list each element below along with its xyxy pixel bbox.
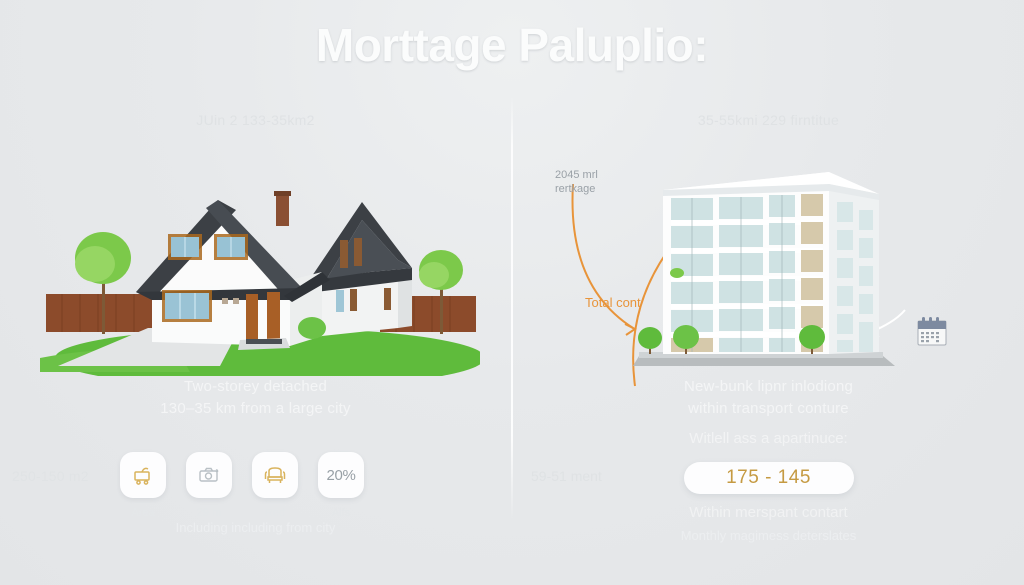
left-caption: Two-storey detached 130–35 km from a lar… xyxy=(0,376,511,420)
left-footnote: Including including from city xyxy=(0,520,511,535)
right-panel-apartment: 35-55kmi 229 firntitue 2045 mrl rertkage… xyxy=(513,96,1024,566)
percent-value: 20% xyxy=(326,467,355,484)
apartment-illustration xyxy=(633,156,913,376)
camera-icon xyxy=(197,463,221,487)
right-caption-line2: within transport conture xyxy=(513,398,1024,420)
right-subtitle: 35-55kmi 229 firntitue xyxy=(513,112,1024,128)
infographic-canvas: Morttage Paluplio: JUin 2 133-35km2 xyxy=(0,0,1024,585)
mortgage-annotation-line2: rertkage xyxy=(555,182,625,196)
armchair-icon xyxy=(263,463,287,487)
page-title: Morttage Paluplio: xyxy=(0,18,1024,72)
mortgage-annotation: 2045 mrl rertkage xyxy=(555,168,625,196)
left-size-label: 250-150 m2 xyxy=(12,468,89,484)
feature-card-distance[interactable]: 29 m xyxy=(186,452,232,519)
right-sub-note: Within merspant contart xyxy=(513,504,1024,521)
left-caption-line2: 130–35 km from a large city xyxy=(0,398,511,420)
left-subtitle: JUin 2 133-35km2 xyxy=(0,112,511,128)
calendar-icon xyxy=(915,314,949,348)
right-size-label: 59-51 ment xyxy=(531,468,602,484)
percent-card[interactable]: 20% xyxy=(318,452,364,498)
feature-card-label: Alfs xyxy=(332,507,350,519)
right-footnote: Monthly magimess deterslates xyxy=(513,528,1024,543)
feature-card-label: 29 m xyxy=(197,507,221,519)
right-question: Witlell ass a apartinuce: xyxy=(513,430,1024,447)
armchair-card[interactable] xyxy=(252,452,298,498)
house-illustration xyxy=(40,176,480,376)
feature-card-label: Area xyxy=(131,507,154,519)
left-caption-line1: Two-storey detached xyxy=(0,376,511,398)
feature-card-furnishing[interactable]: Red xyxy=(252,452,298,519)
feature-card-row: Area 29 m xyxy=(120,452,364,519)
price-range-value: 175 - 145 xyxy=(726,467,811,489)
camera-card[interactable] xyxy=(186,452,232,498)
mortgage-annotation-line1: 2045 mrl xyxy=(555,168,625,182)
right-caption: New-bunk lipnr inlodiong within transpor… xyxy=(513,376,1024,420)
price-range-pill[interactable]: 175 - 145 xyxy=(684,462,854,494)
feature-card-percent[interactable]: 20% Alfs xyxy=(318,452,364,519)
cart-card[interactable] xyxy=(120,452,166,498)
cart-icon xyxy=(131,463,155,487)
feature-card-area[interactable]: Area xyxy=(120,452,166,519)
left-panel-house: JUin 2 133-35km2 xyxy=(0,96,511,566)
right-caption-line1: New-bunk lipnr inlodiong xyxy=(513,376,1024,398)
feature-card-label: Red xyxy=(265,507,285,519)
